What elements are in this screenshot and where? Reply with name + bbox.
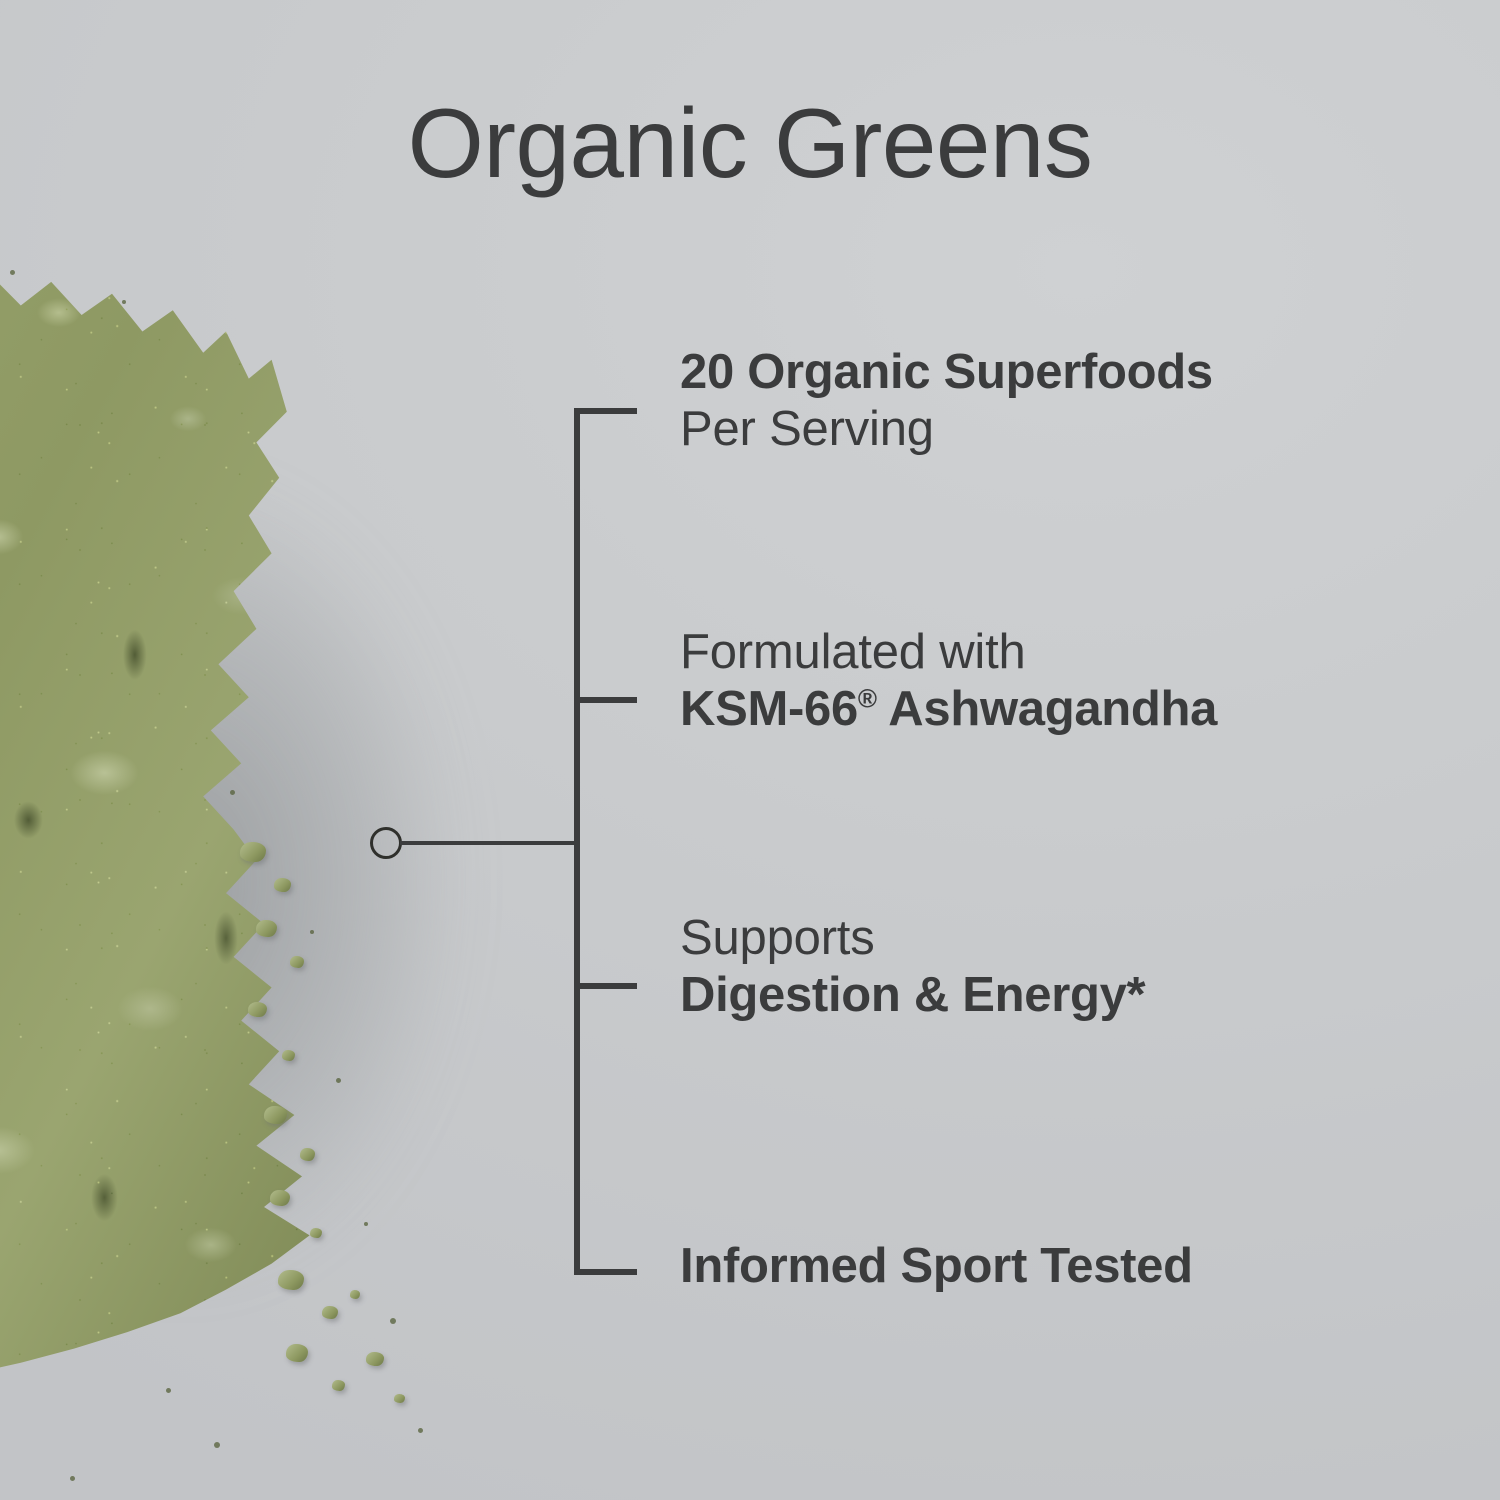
feature-line-secondary: Per Serving bbox=[680, 401, 1213, 458]
feature-line-primary: 20 Organic Superfoods bbox=[680, 344, 1213, 401]
ingredient-name: Ashwagandha bbox=[877, 682, 1217, 736]
feature-line-secondary: KSM-66® Ashwagandha bbox=[680, 681, 1217, 738]
feature-line-primary: Informed Sport Tested bbox=[680, 1238, 1193, 1295]
feature-item-superfoods: 20 Organic Superfoods Per Serving bbox=[680, 344, 1213, 459]
feature-item-informed-sport: Informed Sport Tested bbox=[680, 1238, 1193, 1295]
product-infographic: Organic Greens 20 Organic Superfoods Per… bbox=[0, 0, 1500, 1500]
feature-item-ashwagandha: Formulated with KSM-66® Ashwagandha bbox=[680, 624, 1217, 739]
registered-trademark-icon: ® bbox=[858, 684, 877, 714]
page-title: Organic Greens bbox=[0, 92, 1500, 195]
feature-line-secondary: Digestion & Energy* bbox=[680, 967, 1145, 1024]
feature-line-primary: Supports bbox=[680, 910, 1145, 967]
feature-line-primary: Formulated with bbox=[680, 624, 1217, 681]
ksm-brand-name: KSM-66 bbox=[680, 682, 858, 736]
feature-item-digestion-energy: Supports Digestion & Energy* bbox=[680, 910, 1145, 1025]
